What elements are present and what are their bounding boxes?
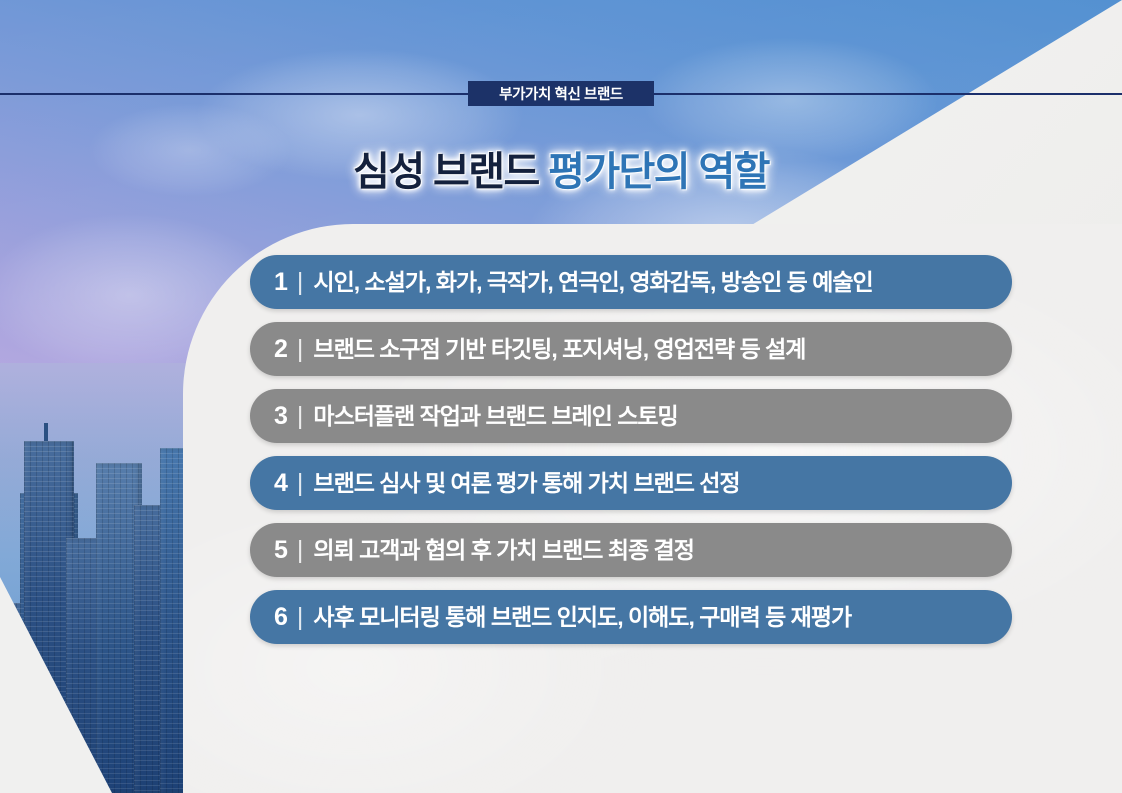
list-item-separator: | — [297, 471, 304, 496]
list-item-separator: | — [297, 337, 304, 362]
list-item-label: 시인, 소설가, 화가, 극작가, 연극인, 영화감독, 방송인 등 예술인 — [313, 271, 872, 294]
list-item[interactable]: 1|시인, 소설가, 화가, 극작가, 연극인, 영화감독, 방송인 등 예술인 — [250, 255, 1012, 309]
list-item-separator: | — [297, 538, 304, 563]
page-title: 심성 브랜드 평가단의 역할 — [0, 139, 1122, 197]
list-item-label: 마스터플랜 작업과 브랜드 브레인 스토밍 — [313, 405, 677, 428]
list-item[interactable]: 3|마스터플랜 작업과 브랜드 브레인 스토밍 — [250, 389, 1012, 443]
page-title-part-primary: 심성 브랜드 — [353, 150, 548, 194]
list-item-label: 브랜드 심사 및 여론 평가 통해 가치 브랜드 선정 — [313, 472, 739, 495]
eyebrow-badge-label: 부가가치 혁신 브랜드 — [499, 83, 623, 104]
list-item-number: 2 — [274, 337, 288, 362]
list-item-number: 1 — [274, 270, 288, 295]
presentation-slide: 부가가치 혁신 브랜드 심성 브랜드 평가단의 역할 1|시인, 소설가, 화가… — [0, 0, 1122, 793]
list-item-number: 6 — [274, 605, 288, 630]
list-item-label: 사후 모니터링 통해 브랜드 인지도, 이해도, 구매력 등 재평가 — [313, 606, 851, 629]
list-item-label: 브랜드 소구점 기반 타깃팅, 포지셔닝, 영업전략 등 설계 — [313, 338, 805, 361]
list-item[interactable]: 6|사후 모니터링 통해 브랜드 인지도, 이해도, 구매력 등 재평가 — [250, 590, 1012, 644]
list-item-separator: | — [297, 404, 304, 429]
list-item[interactable]: 2|브랜드 소구점 기반 타깃팅, 포지셔닝, 영업전략 등 설계 — [250, 322, 1012, 376]
list-item-separator: | — [297, 270, 304, 295]
list-item-number: 5 — [274, 538, 288, 563]
list-item-separator: | — [297, 605, 304, 630]
list-item[interactable]: 5|의뢰 고객과 협의 후 가치 브랜드 최종 결정 — [250, 523, 1012, 577]
eyebrow-badge: 부가가치 혁신 브랜드 — [468, 81, 654, 106]
list-item-number: 4 — [274, 471, 288, 496]
list-item-label: 의뢰 고객과 협의 후 가치 브랜드 최종 결정 — [313, 539, 693, 562]
list-item-number: 3 — [274, 404, 288, 429]
page-title-part-accent: 평가단의 역할 — [548, 150, 769, 194]
list-item[interactable]: 4|브랜드 심사 및 여론 평가 통해 가치 브랜드 선정 — [250, 456, 1012, 510]
numbered-list: 1|시인, 소설가, 화가, 극작가, 연극인, 영화감독, 방송인 등 예술인… — [250, 255, 1012, 657]
